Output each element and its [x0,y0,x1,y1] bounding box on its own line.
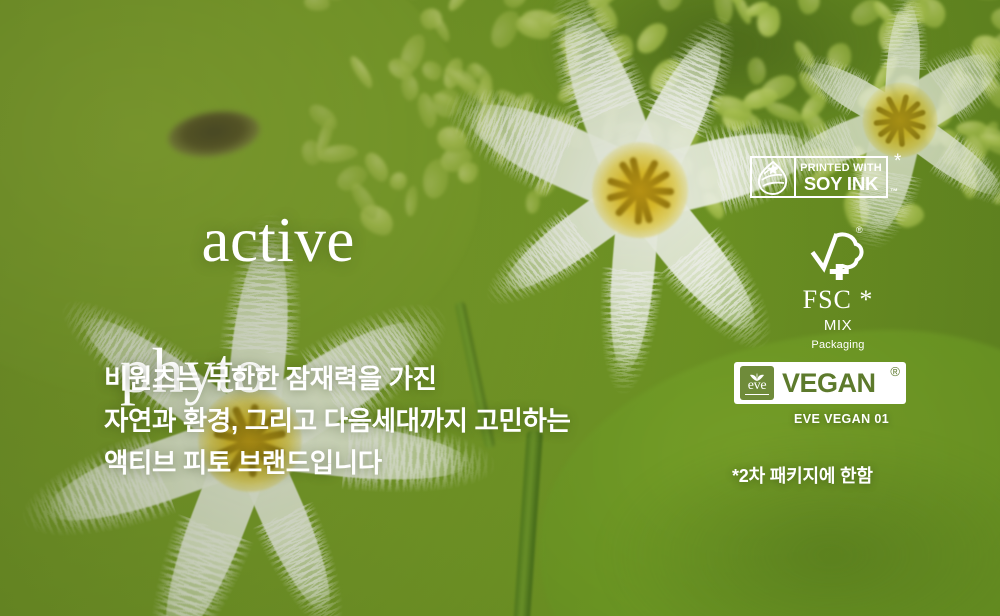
description-line-1: 비원츠는 무한한 잠재력을 가진 [104,358,570,400]
eve-rule-divider [745,394,769,396]
soy-leaf-drop-icon [752,158,796,196]
fsc-name-label: FSC * [778,286,898,314]
banner-content: active phyto 비원츠는 무한한 잠재력을 가진 자연과 환경, 그리… [0,0,1000,616]
eve-vegan-badge: eve VEGAN ® [734,362,906,404]
brand-description: 비원츠는 무한한 잠재력을 가진 자연과 환경, 그리고 다음세대까지 고민하는… [104,358,570,484]
soy-ink-asterisk: * [894,152,901,171]
fsc-packaging-label: Packaging [778,338,898,352]
fsc-tree-checkmark-icon: ® [778,228,898,286]
fsc-badge: ® FSC * MIX Packaging [778,228,898,352]
soy-ink-top-label: PRINTED WITH [800,162,882,174]
headline-line-1: active [202,205,355,275]
fsc-registered-mark: ® [856,226,863,235]
eve-logo-mark: eve [740,366,774,400]
fsc-mix-label: MIX [778,314,898,338]
soy-ink-bottom-label: SOY INK [804,174,878,193]
package-footnote: *2차 패키지에 한함 [732,462,873,488]
vegan-registered-mark: ® [890,365,900,378]
eve-leaf-icon [747,369,767,387]
soy-ink-trademark: ™ [890,188,898,196]
soy-ink-text: PRINTED WITH SOY INK [796,158,886,196]
description-line-2: 자연과 환경, 그리고 다음세대까지 고민하는 [104,400,570,442]
soy-ink-badge: PRINTED WITH SOY INK [750,156,888,198]
vegan-label: VEGAN [782,369,876,397]
eve-vegan-caption: EVE VEGAN 01 [794,412,889,426]
brand-banner: active phyto 비원츠는 무한한 잠재력을 가진 자연과 환경, 그리… [0,0,1000,616]
description-line-3: 액티브 피토 브랜드입니다 [104,442,570,484]
